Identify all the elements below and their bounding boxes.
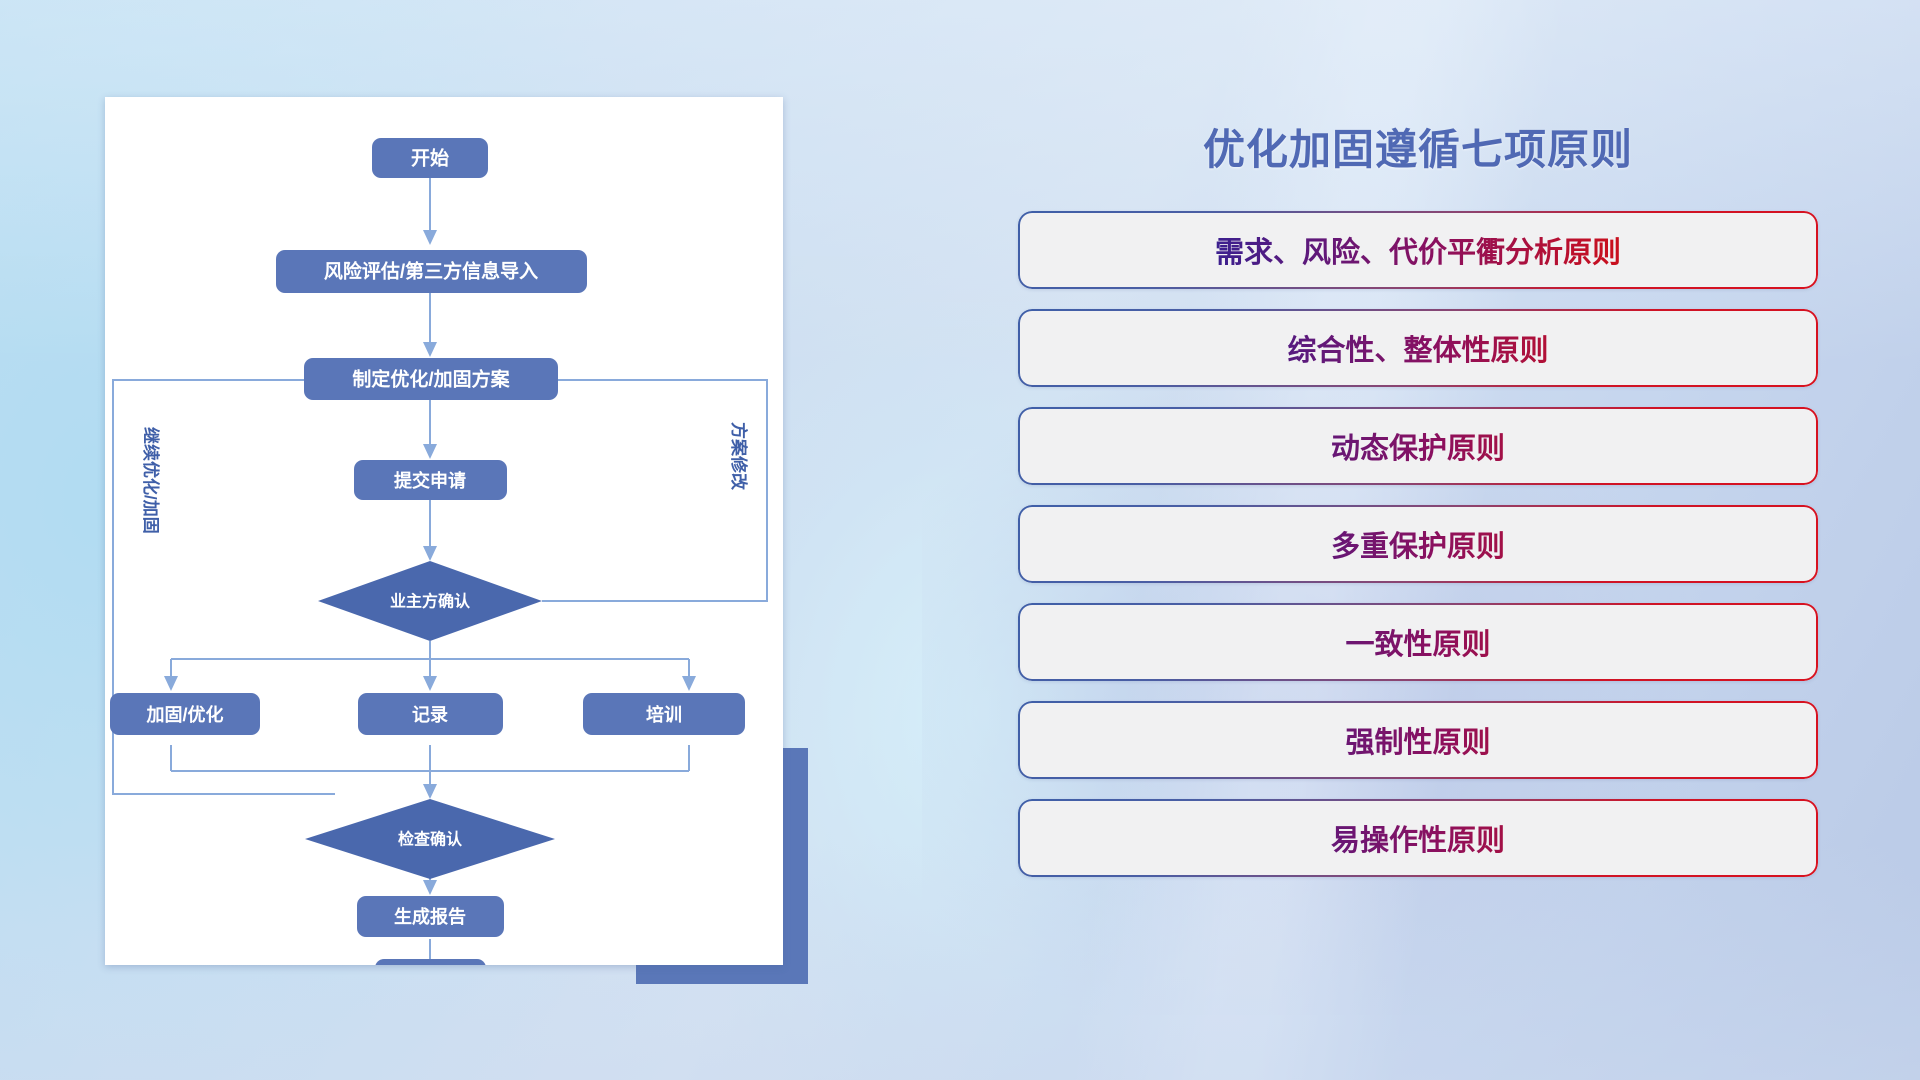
flow-node-submit-label: 提交申请 xyxy=(394,470,466,491)
principle-card-2[interactable]: 综合性、整体性原则 xyxy=(1018,309,1818,387)
flow-node-submit[interactable]: 提交申请 xyxy=(354,460,507,500)
flow-node-start[interactable]: 开始 xyxy=(372,138,488,178)
principles-panel: 优化加固遵循七项原则 需求、风险、代价平衢分析原则 综合性、整体性原则 动态保护… xyxy=(1018,96,1818,996)
principle-card-2-label: 综合性、整体性原则 xyxy=(1018,309,1818,387)
edge-ownerok-fanout xyxy=(164,641,696,691)
flow-node-reinforce-label: 加固/优化 xyxy=(145,704,223,725)
principle-card-5[interactable]: 一致性原则 xyxy=(1018,603,1818,681)
edge-assess-to-plan xyxy=(423,287,437,357)
principle-card-1-label: 需求、风险、代价平衢分析原则 xyxy=(1018,211,1818,289)
principle-card-4[interactable]: 多重保护原则 xyxy=(1018,505,1818,583)
flow-node-training[interactable]: 培训 xyxy=(583,693,745,735)
flow-node-report-label: 生成报告 xyxy=(394,906,466,927)
flow-node-owner-confirm-label: 业主方确认 xyxy=(390,592,471,611)
principle-card-6[interactable]: 强制性原则 xyxy=(1018,701,1818,779)
flow-node-end[interactable]: 结束 xyxy=(375,959,486,965)
principle-card-5-label: 一致性原则 xyxy=(1018,603,1818,681)
flow-node-owner-confirm[interactable]: 业主方确认 xyxy=(318,561,542,641)
panel-title: 优化加固遵循七项原则 xyxy=(1018,116,1818,177)
principle-card-6-label: 强制性原则 xyxy=(1018,701,1818,779)
flow-node-check-confirm[interactable]: 检查确认 xyxy=(305,799,555,879)
principle-card-7[interactable]: 易操作性原则 xyxy=(1018,799,1818,877)
edge-label-plan-revision: 方案修改 xyxy=(729,422,749,491)
flow-node-check-confirm-label: 检查确认 xyxy=(398,830,463,849)
edge-fanin-to-checkok xyxy=(171,745,689,799)
flow-node-training-label: 培训 xyxy=(646,704,682,725)
flow-node-record[interactable]: 记录 xyxy=(358,693,503,735)
principle-card-1[interactable]: 需求、风险、代价平衢分析原则 xyxy=(1018,211,1818,289)
principle-card-7-label: 易操作性原则 xyxy=(1018,799,1818,877)
flowchart-diagram: 开始 风险评估/第三方信息导入 制定优化/加固方案 提交申请 业主方确认 加固/… xyxy=(105,97,783,965)
flow-node-plan[interactable]: 制定优化/加固方案 xyxy=(304,358,558,400)
edge-label-continue-optimize: 继续优化/加固 xyxy=(141,427,161,534)
principle-card-3[interactable]: 动态保护原则 xyxy=(1018,407,1818,485)
flow-node-risk-assessment[interactable]: 风险评估/第三方信息导入 xyxy=(276,250,587,293)
flow-node-risk-assessment-label: 风险评估/第三方信息导入 xyxy=(324,260,538,283)
principle-card-3-label: 动态保护原则 xyxy=(1018,407,1818,485)
principle-list: 需求、风险、代价平衢分析原则 综合性、整体性原则 动态保护原则 多重保护原则 一… xyxy=(1018,211,1818,877)
flow-node-start-label: 开始 xyxy=(411,147,449,170)
flow-node-report[interactable]: 生成报告 xyxy=(357,896,504,937)
principle-card-4-label: 多重保护原则 xyxy=(1018,505,1818,583)
flow-node-plan-label: 制定优化/加固方案 xyxy=(352,368,510,391)
flow-node-reinforce[interactable]: 加固/优化 xyxy=(110,693,260,735)
flowchart-card: 开始 风险评估/第三方信息导入 制定优化/加固方案 提交申请 业主方确认 加固/… xyxy=(105,97,783,965)
flow-node-record-label: 记录 xyxy=(412,705,448,725)
edge-plan-to-submit xyxy=(423,399,437,459)
edge-start-to-assess xyxy=(423,175,437,245)
edge-submit-to-ownerok xyxy=(423,499,437,561)
edge-ownerok-to-plan-revise xyxy=(493,373,767,601)
